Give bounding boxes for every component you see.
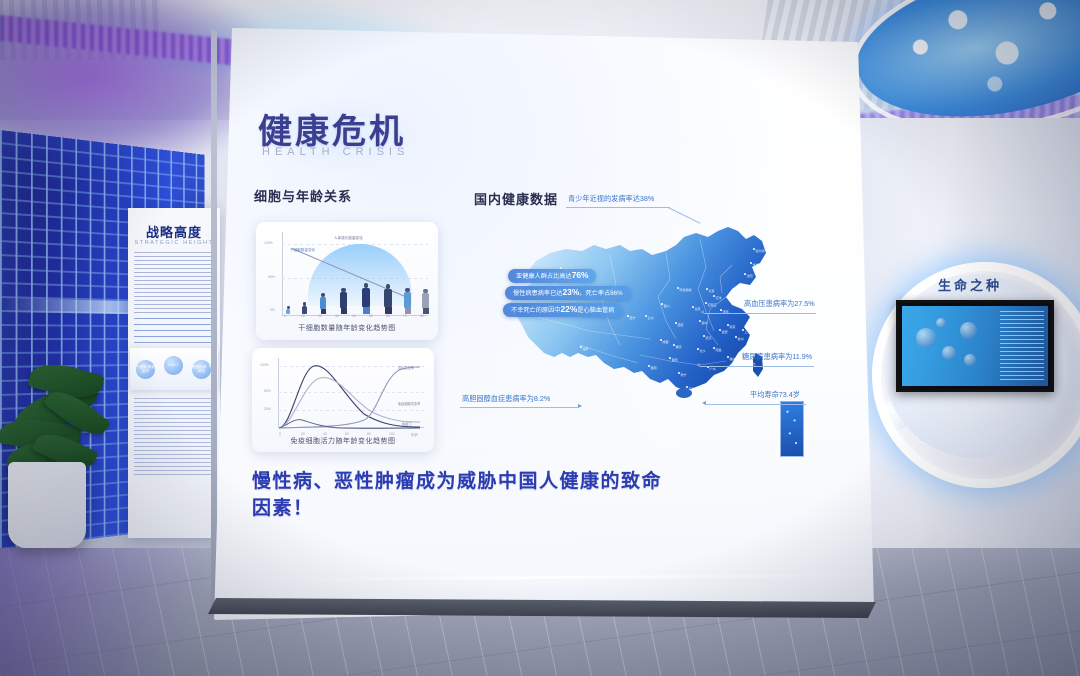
city-label: 广州 (710, 367, 716, 371)
city-dot (678, 372, 680, 374)
stat-pill-0-before: 亚健康人群占比高达 (516, 273, 572, 280)
strategy-panel-title: 战略高度 (134, 222, 214, 241)
city-dot (677, 287, 679, 289)
city-label: 哈尔滨 (756, 249, 765, 253)
city-dot (627, 315, 629, 317)
city-dot (735, 336, 737, 338)
city-dot (750, 262, 752, 264)
city-dot (673, 344, 675, 346)
chart-xtick: 60 (386, 314, 390, 318)
cell-blob-2 (942, 346, 956, 360)
card1-caption: 干细胞数量随年龄变化趋势图 (256, 323, 438, 333)
city-label: 重庆 (676, 345, 682, 349)
cell-blob-3 (960, 322, 977, 339)
city-dot (713, 347, 715, 349)
city-dot (661, 303, 663, 305)
callout-myopia-line (566, 207, 670, 208)
city-label: 兰州 (648, 316, 654, 320)
city-label: 西安 (678, 323, 684, 327)
china-map: 北京天津呼和浩特太原石家庄济南郑州西安兰州西宁银川乌鲁木齐拉萨成都重庆武汉合肥南… (470, 205, 800, 465)
card1-ytick-1: 50% (268, 275, 275, 279)
city-dot (648, 365, 650, 367)
callout-hypertension: 高血压患病率为27.5% (744, 299, 815, 309)
callout-cholesterol: 高胆固醇血症患病率为8.2% (462, 394, 550, 404)
city-dot (660, 339, 662, 341)
callout-myopia: 青少年近视的发病率达38% (568, 194, 654, 204)
floor-purple-reflection (0, 548, 230, 676)
chart-xtick: 60 (345, 432, 349, 436)
life-seed-title: 生命之种 (905, 275, 1035, 294)
strategy-bubble-2: CAR-T (164, 356, 183, 375)
city-dot (699, 320, 701, 322)
city-label: 昆明 (651, 366, 657, 370)
stat-pill-2-before: 不幸死亡的原因中 (511, 307, 561, 314)
city-label: 北京 (709, 289, 715, 293)
chart-card-stem-cells: 100% 50% 0% 人体成长能量变化 干细胞数量变化 干细胞数量随年龄变化趋… (256, 222, 438, 340)
city-label: 贵阳 (672, 358, 678, 362)
city-dot (727, 356, 729, 358)
stat-pill-2-value: 22% (561, 304, 578, 314)
strategy-panel-bullets (134, 318, 214, 344)
chart-xtick: 40 (352, 314, 356, 318)
exhibition-photo: 战略高度 STRATEGIC HEIGHT 干细胞 精准医疗 CAR-T 基因检… (0, 0, 1080, 676)
city-label: 长沙 (700, 349, 706, 353)
city-dot (697, 348, 699, 350)
city-dot (713, 295, 715, 297)
callout-diabetes: 糖尿病患病率为11.9% (742, 352, 812, 362)
chart-xtick: 20 (301, 432, 305, 436)
city-label: 杭州 (738, 337, 744, 341)
callout-hypertension-line (704, 313, 816, 314)
city-label: 银川 (664, 304, 670, 308)
city-dot (753, 248, 755, 250)
stat-pill-0-value: 76% (572, 270, 589, 280)
callout-cholesterol-line (460, 407, 578, 408)
bottom-headline: 慢性病、恶性肿瘤成为威胁中国人健康的致命因素！ (252, 466, 682, 520)
callout-diabetes-arrow (696, 363, 700, 367)
city-dot (705, 302, 707, 304)
chart-xtick: 50 (369, 314, 373, 318)
strategy-panel-body-text-2 (134, 398, 214, 478)
screen-text-block (1000, 311, 1044, 381)
city-dot (727, 324, 729, 326)
city-label: 成都 (663, 340, 669, 344)
cell-blob-1 (916, 328, 936, 348)
stat-pill-1-before: 慢性病患病率已达 (513, 290, 563, 297)
stat-pill-1: 慢性病患病率已达23%，死亡率占86% (505, 286, 631, 300)
city-label: 上海 (745, 330, 751, 334)
card2-legend-0: 癌症发生率 (398, 365, 414, 370)
city-dot (686, 386, 688, 388)
card1-ytick-2: 0% (270, 308, 275, 312)
callout-hypertension-arrow (700, 310, 704, 314)
chart-xtick: 100 (389, 432, 395, 436)
strategy-panel-subtitle: STRATEGIC HEIGHT (134, 240, 214, 246)
callout-cholesterol-arrow (578, 404, 582, 408)
page-subtitle: HEALTH CRISIS (262, 146, 452, 158)
city-dot (742, 329, 744, 331)
strategy-bubble-1: 干细胞 精准医疗 (136, 360, 155, 379)
cell-blob-4 (936, 318, 946, 328)
chart-xtick: 年龄 (411, 432, 418, 437)
callout-diabetes-line (700, 366, 814, 367)
strategy-bubble-3: 基因检测 个体化 (192, 360, 211, 379)
chart-xtick: 20 (318, 314, 322, 318)
chart-xtick: 70 (403, 314, 407, 318)
city-dot (645, 315, 647, 317)
chart-xtick: 0 (279, 432, 281, 436)
chart-xtick: 40 (323, 432, 327, 436)
city-label: 拉萨 (583, 347, 589, 351)
south-china-sea-inset (780, 401, 804, 457)
board-left-edge (211, 30, 217, 616)
stat-pill-2-after: 是心脑血管病 (577, 307, 614, 314)
chart-card-immune-cells: 100% 50% 20% 癌症发生率 免疫细胞突变率 免疫力 免疫细胞活力随年龄… (252, 348, 434, 452)
city-dot (675, 322, 677, 324)
city-label: 南昌 (716, 348, 722, 352)
city-label: 福州 (730, 357, 736, 361)
city-label: 海口 (689, 387, 695, 391)
city-label: 南京 (730, 325, 736, 329)
south-china-sea-dots (781, 402, 803, 456)
strategy-panel-body-text (134, 252, 214, 314)
city-label: 南宁 (681, 373, 687, 377)
city-dot (669, 357, 671, 359)
chart-xtick: 30 (335, 314, 339, 318)
china-map-svg (470, 205, 800, 465)
city-label: 沈阳 (747, 274, 753, 278)
card2-caption: 免疫细胞活力随年龄变化趋势图 (252, 436, 434, 446)
city-dot (720, 309, 722, 311)
city-dot (692, 306, 694, 308)
card1-decline-label: 干细胞数量变化 (290, 248, 315, 253)
city-label: 呼和浩特 (680, 288, 692, 292)
city-label: 西宁 (630, 316, 636, 320)
callout-life-expectancy: 平均寿命73.4岁 (750, 390, 800, 400)
right-wall-display-screen[interactable] (896, 300, 1054, 392)
city-label: 长春 (753, 263, 759, 267)
callout-life-line (706, 404, 806, 405)
card2-legend-1: 免疫细胞突变率 (398, 401, 420, 406)
stat-pill-0: 亚健康人群占比高达76% (508, 269, 596, 283)
screen-content (902, 306, 1048, 386)
callout-life-arrow (702, 401, 706, 405)
city-dot (703, 335, 705, 337)
stat-pill-1-value: 23% (563, 287, 580, 297)
stat-pill-2: 不幸死亡的原因中22%是心脑血管病 (503, 303, 622, 317)
chart-xtick: 10 (301, 314, 305, 318)
cell-blob-5 (964, 354, 976, 366)
card1-ytick-0: 100% (264, 241, 273, 245)
city-label: 天津 (716, 296, 722, 300)
city-label: 郑州 (702, 321, 708, 325)
chart-xtick: 0 (284, 314, 286, 318)
chart-xtick: 80 (367, 432, 371, 436)
card1-bell-label: 人体成长能量变化 (334, 236, 363, 241)
city-dot (580, 346, 582, 348)
plant-pot (8, 462, 86, 548)
city-dot (719, 329, 721, 331)
stat-pill-1-after: ，死亡率占86% (579, 290, 622, 297)
city-dot (744, 273, 746, 275)
card2-legend-2: 免疫力 (402, 421, 412, 426)
chart-xtick: 80 (420, 314, 424, 318)
section-title-cells-age: 细胞与年龄关系 (254, 186, 352, 205)
city-dot (706, 288, 708, 290)
city-label: 合肥 (722, 330, 728, 334)
city-label: 石家庄 (708, 303, 717, 307)
city-label: 武汉 (706, 336, 712, 340)
